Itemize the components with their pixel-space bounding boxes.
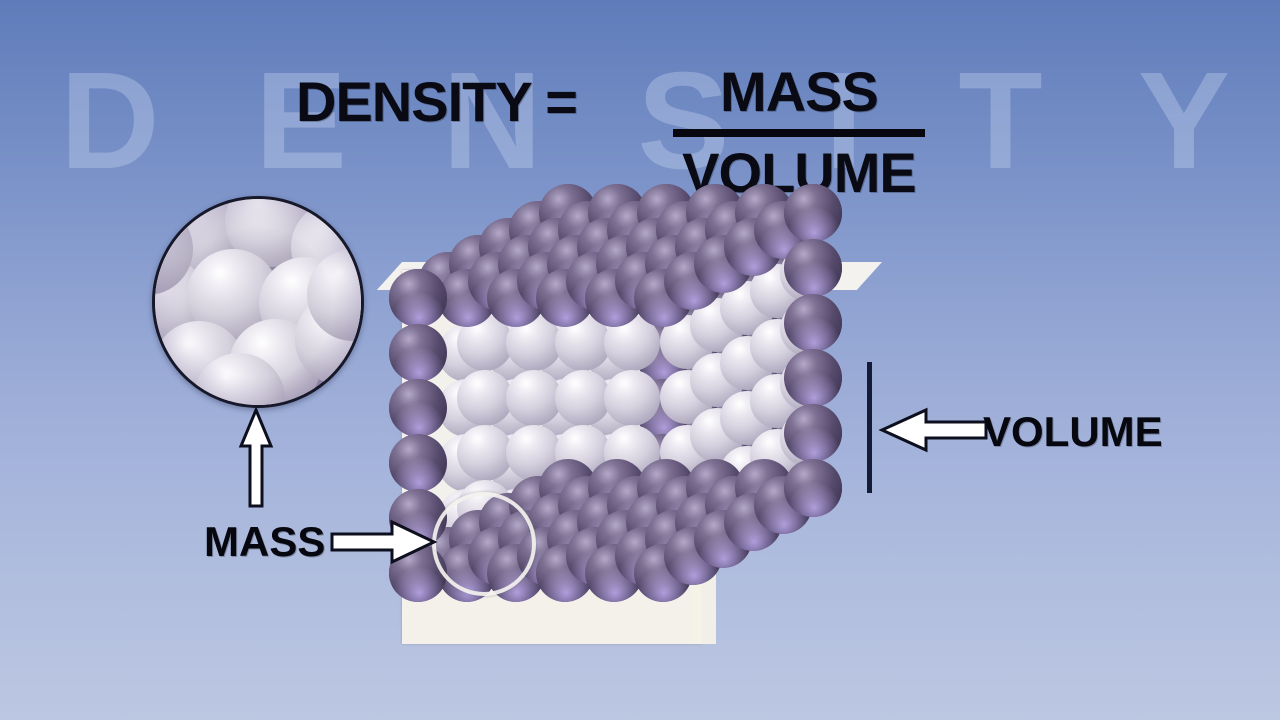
lattice-sphere bbox=[784, 239, 842, 297]
lattice-sphere bbox=[457, 425, 513, 481]
lattice-sphere bbox=[784, 459, 842, 517]
formula-numerator: MASS bbox=[673, 62, 925, 121]
lattice-sphere bbox=[389, 324, 447, 382]
lattice-sphere bbox=[784, 349, 842, 407]
mass-callout-ring bbox=[432, 492, 536, 596]
lattice-sphere bbox=[784, 294, 842, 352]
lattice-sphere bbox=[389, 379, 447, 437]
lattice-sphere bbox=[784, 184, 842, 242]
density-formula: DENSITY = MASS VOLUME bbox=[296, 62, 925, 203]
fraction-bar bbox=[673, 129, 925, 137]
lattice-sphere bbox=[457, 370, 513, 426]
lattice-sphere bbox=[555, 370, 611, 426]
label-volume: VOLUME bbox=[983, 408, 1163, 456]
lattice-sphere bbox=[506, 370, 562, 426]
sphere-packed-cube bbox=[392, 262, 884, 682]
formula-left-term: DENSITY = bbox=[296, 62, 577, 130]
magnifier-inset bbox=[152, 196, 364, 408]
up-arrow-icon bbox=[238, 408, 274, 508]
formula-fraction: MASS VOLUME bbox=[673, 62, 925, 203]
right-arrow-icon bbox=[330, 520, 436, 564]
lattice-sphere bbox=[784, 404, 842, 462]
watermark-letter-y: Y bbox=[1138, 52, 1230, 190]
diagram-canvas: D E N S I T Y DENSITY = MASS VOLUME M bbox=[0, 0, 1280, 720]
label-mass: MASS bbox=[204, 518, 325, 566]
lattice-sphere bbox=[604, 370, 660, 426]
lattice-sphere bbox=[389, 434, 447, 492]
left-arrow-icon bbox=[878, 408, 988, 452]
watermark-letter-d: D bbox=[60, 52, 160, 190]
cube-height-measure bbox=[867, 362, 872, 493]
watermark-letter-t: T bbox=[958, 52, 1042, 190]
lattice-sphere bbox=[389, 269, 447, 327]
